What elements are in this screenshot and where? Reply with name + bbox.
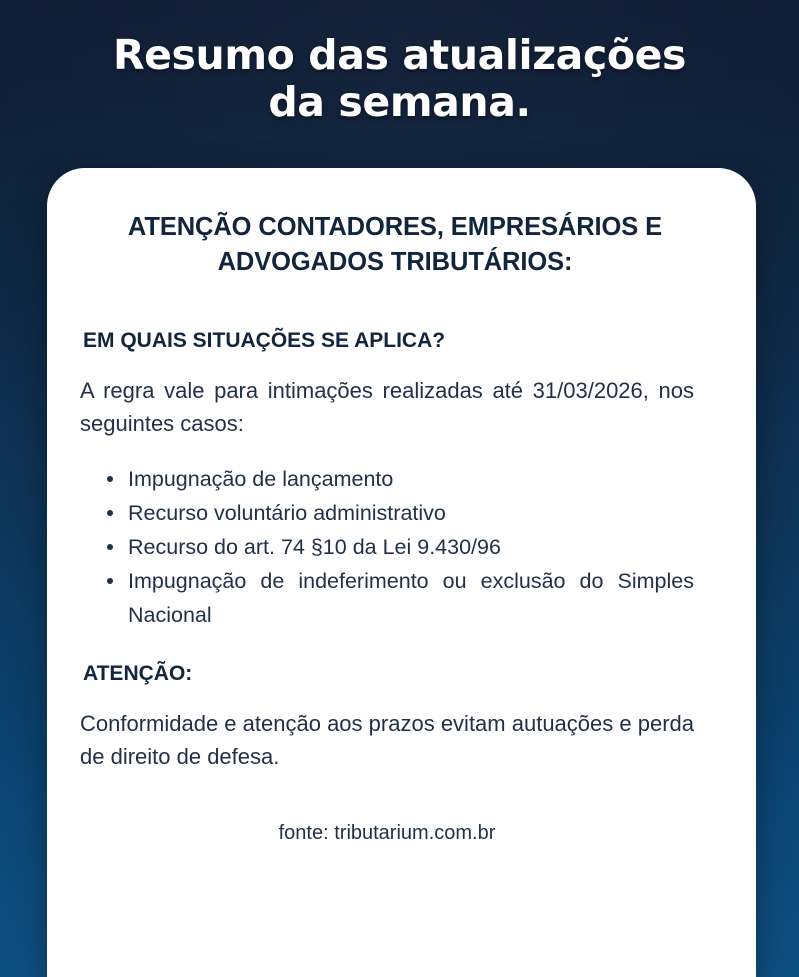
list-item: Recurso do art. 74 §10 da Lei 9.430/96	[80, 530, 694, 564]
section-heading-situations: EM QUAIS SITUAÇÕES SE APLICA?	[80, 327, 710, 354]
poster-root: Resumo das atualizações da semana. ATENÇ…	[0, 0, 799, 977]
section-heading-attention: ATENÇÃO:	[80, 660, 710, 687]
header-title-line-1: Resumo das atualizações	[0, 32, 799, 79]
closing-paragraph: Conformidade e atenção aos prazos evitam…	[80, 707, 710, 773]
header-title-line-2: da semana.	[0, 79, 799, 126]
card-inner: ATENÇÃO CONTADORES, EMPRESÁRIOS E ADVOGA…	[47, 168, 756, 847]
list-item: Recurso voluntário administrativo	[80, 496, 694, 530]
source-credit: fonte: tributarium.com.br	[80, 819, 710, 847]
card-headline: ATENÇÃO CONTADORES, EMPRESÁRIOS E ADVOGA…	[94, 210, 696, 280]
rule-paragraph: A regra vale para intimações realizadas …	[80, 374, 710, 440]
poster-header: Resumo das atualizações da semana.	[0, 32, 799, 126]
list-item: Impugnação de lançamento	[80, 462, 694, 496]
situations-list: Impugnação de lançamento Recurso voluntá…	[80, 462, 710, 632]
list-item: Impugnação de indeferimento ou exclusão …	[80, 564, 694, 632]
content-card: ATENÇÃO CONTADORES, EMPRESÁRIOS E ADVOGA…	[47, 168, 756, 977]
